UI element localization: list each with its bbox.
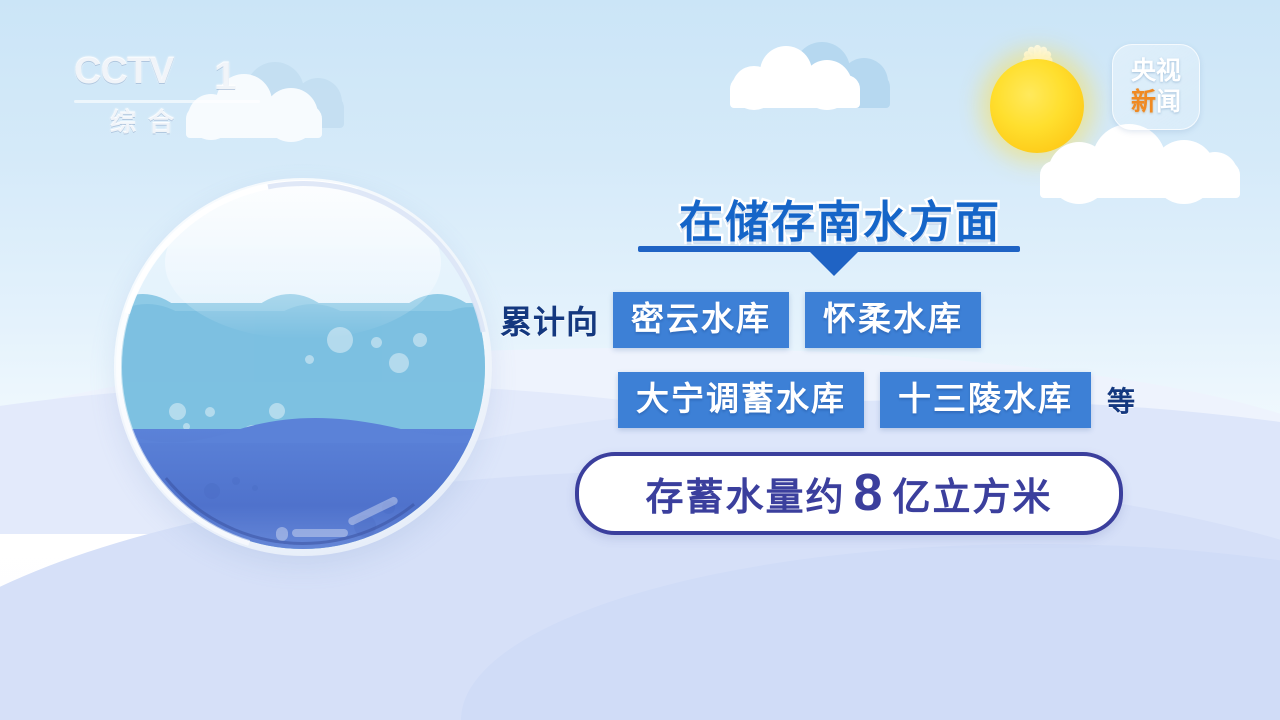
headline-block: 在储存南水方面: [640, 186, 1040, 250]
reservoir-tag-miyun[interactable]: 密云水库: [613, 292, 789, 348]
cloud-icon: [730, 36, 890, 108]
lead-label: 累计向: [500, 297, 599, 343]
cctv-news-badge: 央视 新闻: [1112, 44, 1200, 130]
news-badge-highlight: 新: [1131, 88, 1156, 116]
news-badge-line2: 新闻: [1113, 90, 1199, 115]
summary-prefix: 存蓄水量约: [646, 466, 846, 521]
cctv-channel-name: 综合: [110, 102, 186, 139]
summary-value: 8: [854, 467, 885, 519]
reservoir-row-1: 累计向 密云水库 怀柔水库: [500, 292, 997, 348]
suffix-label: 等: [1107, 380, 1136, 420]
cctv-channel-watermark: CCTV 1 综合: [74, 50, 274, 142]
water-sphere-icon: [114, 178, 492, 556]
chevron-down-icon: [808, 250, 860, 276]
cloud-icon: [1040, 118, 1240, 198]
cctv-channel-number: 1: [214, 54, 236, 99]
page-title: 在储存南水方面: [640, 186, 1040, 250]
summary-unit: 亿立方米: [892, 466, 1052, 521]
summary-pill: 存蓄水量约 8 亿立方米: [575, 452, 1123, 535]
summary-text: 存蓄水量约 8 亿立方米: [646, 466, 1053, 521]
cctv-logo-text: CCTV: [74, 50, 173, 93]
news-badge-rest: 闻: [1156, 88, 1181, 116]
reservoir-tag-daning[interactable]: 大宁调蓄水库: [618, 372, 864, 428]
infographic-canvas: CCTV 1 综合 央视 新闻: [0, 0, 1280, 720]
reservoir-tag-shisanling[interactable]: 十三陵水库: [880, 372, 1091, 428]
news-badge-line1: 央视: [1113, 59, 1199, 84]
reservoir-row-2: 大宁调蓄水库 十三陵水库 等: [618, 372, 1136, 428]
reservoir-tag-huairou[interactable]: 怀柔水库: [805, 292, 981, 348]
